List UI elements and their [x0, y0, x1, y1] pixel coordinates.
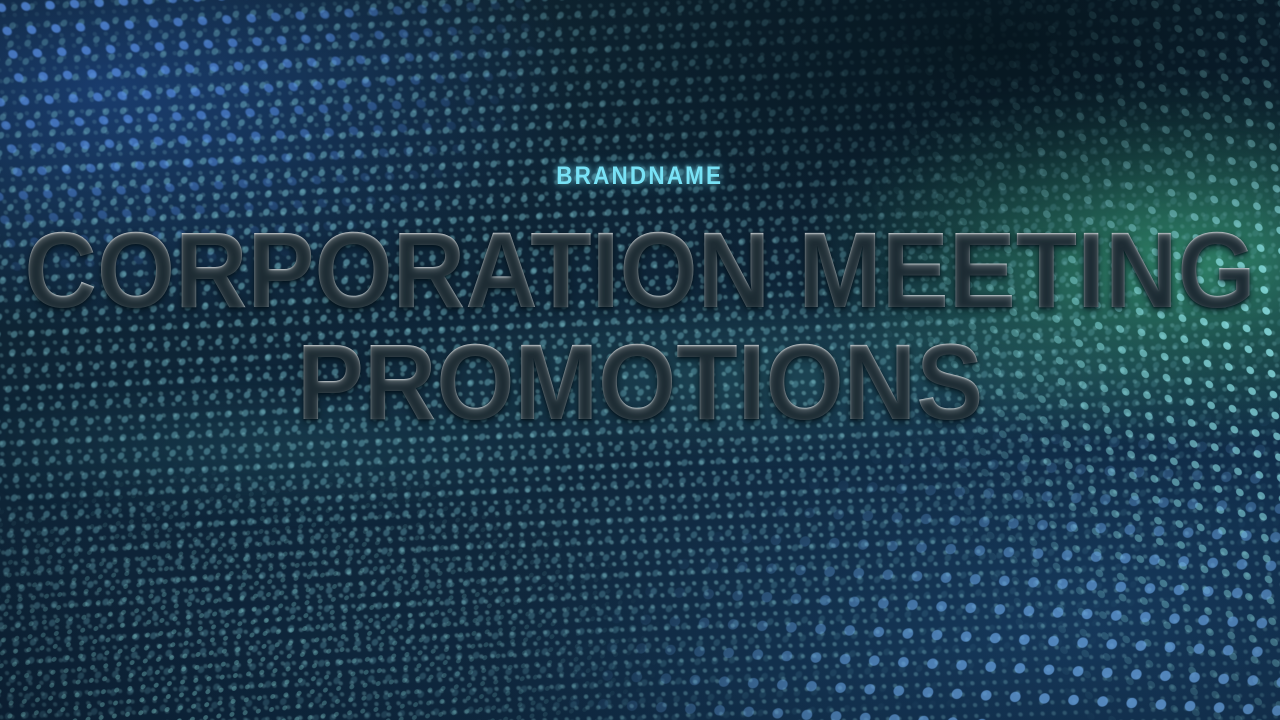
title-line-2: PROMOTIONS: [297, 329, 983, 435]
page-title: CORPORATION MEETING PROMOTIONS: [0, 217, 1280, 435]
brand-name-label: BRANDNAME: [557, 164, 724, 189]
title-slide: BRANDNAME CORPORATION MEETING PROMOTIONS: [0, 0, 1280, 720]
slide-content: BRANDNAME CORPORATION MEETING PROMOTIONS: [0, 0, 1280, 720]
title-line-1: CORPORATION MEETING: [24, 217, 1255, 323]
